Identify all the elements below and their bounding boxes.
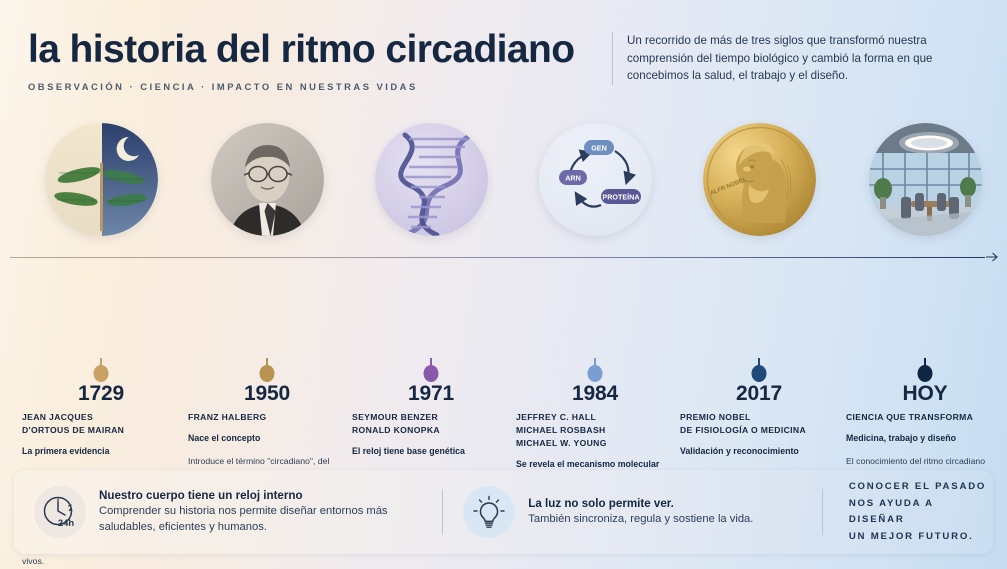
timeline-axis (10, 257, 985, 258)
timeline-dot-hoy[interactable] (918, 365, 933, 382)
clock-icon-label: 24h (58, 518, 75, 529)
entry-image-wrap: ALFR NOBEL (680, 116, 838, 242)
timeline-dot-1971[interactable] (424, 365, 439, 382)
entry-person: CIENCIA QUE TRANSFORMA (846, 411, 1004, 424)
timeline-dot-1984[interactable] (588, 365, 603, 382)
entry-year: 1729 (22, 382, 180, 406)
footer-note-heading: Nuestro cuerpo tiene un reloj interno (99, 489, 422, 502)
footer-note-body: También sincroniza, regula y sostiene la… (528, 512, 753, 528)
timeline-entry-1984[interactable]: GEN ARN PROTEÍNA 1984 JEFFREY C. HALL MI… (516, 116, 674, 242)
entry-lead: Nace el concepto (188, 433, 346, 445)
footer-note-text: La luz no solo permite ver. También sinc… (528, 497, 753, 528)
footer-note-heading: La luz no solo permite ver. (528, 497, 753, 510)
infographic-canvas: la historia del ritmo circadiano OBSERVA… (0, 0, 1007, 569)
footer-note-body: Comprender su historia nos permite diseñ… (99, 504, 422, 536)
entry-lead: La primera evidencia (22, 446, 180, 458)
footer-note-light: La luz no solo permite ver. También sinc… (443, 486, 821, 538)
entry-year: 1984 (516, 382, 674, 406)
entry-person: SEYMOUR BENZER RONALD KONOPKA (352, 411, 510, 437)
modern-office-interior-ring-light-photo (869, 123, 982, 236)
footer-bar: 24h Nuestro cuerpo tiene un reloj intern… (14, 470, 993, 554)
entry-year: 2017 (680, 382, 838, 406)
entry-person: JEAN JACQUES D'ORTOUS DE MAIRAN (22, 411, 180, 437)
footer-note-text: Nuestro cuerpo tiene un reloj interno Co… (99, 489, 422, 536)
gene-rna-protein-feedback-loop-diagram: GEN ARN PROTEÍNA (539, 123, 652, 236)
entry-image-wrap (188, 116, 346, 242)
timeline-entry-1971[interactable]: 1971 SEYMOUR BENZER RONALD KONOPKA El re… (352, 116, 510, 242)
entry-person: JEFFREY C. HALL MICHAEL ROSBASH MICHAEL … (516, 411, 674, 450)
timeline-entry-hoy[interactable]: HOY CIENCIA QUE TRANSFORMA Medicina, tra… (846, 116, 1004, 242)
timeline-entry-1729[interactable]: 1729 JEAN JACQUES D'ORTOUS DE MAIRAN La … (22, 116, 180, 242)
footer-note-clock: 24h Nuestro cuerpo tiene un reloj intern… (14, 486, 442, 538)
entry-image-wrap (352, 116, 510, 242)
entry-year: HOY (846, 382, 1004, 406)
timeline-entry-1950[interactable]: 1950 FRANZ HALBERG Nace el concepto Intr… (188, 116, 346, 242)
footer-closing-statement: CONOCER EL PASADO NOS AYUDA A DISEÑAR UN… (823, 479, 993, 545)
timeline-entry-2017[interactable]: ALFR NOBEL 2017 PREMIO NOBEL DE FISIOLOG… (680, 116, 838, 242)
diagram-label-protein: PROTEÍNA (602, 192, 639, 201)
entry-person: PREMIO NOBEL DE FISIOLOGÍA O MEDICINA (680, 411, 838, 437)
intro-paragraph: Un recorrido de más de tres siglos que t… (612, 32, 992, 85)
diagram-label-rna: ARN (565, 173, 581, 182)
entry-image-wrap (22, 116, 180, 242)
franz-halberg-portrait-photo (211, 123, 324, 236)
entry-person: FRANZ HALBERG (188, 411, 346, 424)
timeline-dot-2017[interactable] (752, 365, 767, 382)
entry-image-wrap (846, 116, 1004, 242)
entry-lead: El reloj tiene base genética (352, 446, 510, 458)
entry-image-wrap: GEN ARN PROTEÍNA (516, 116, 674, 242)
clock-24h-icon: 24h (34, 486, 86, 538)
timeline-dot-1729[interactable] (94, 365, 109, 382)
timeline-dot-1950[interactable] (260, 365, 275, 382)
diagram-label-gene: GEN (591, 143, 607, 152)
entry-lead: Validación y reconocimiento (680, 446, 838, 458)
nobel-prize-gold-medal-photo: ALFR NOBEL (703, 123, 816, 236)
day-night-mimosa-plant-photo (45, 123, 158, 236)
entry-year: 1971 (352, 382, 510, 406)
lightbulb-icon (463, 486, 515, 538)
arrow-right-icon (985, 250, 999, 264)
entry-lead: Medicina, trabajo y diseño (846, 433, 1004, 445)
entry-year: 1950 (188, 382, 346, 406)
dna-double-helix-photo (375, 123, 488, 236)
